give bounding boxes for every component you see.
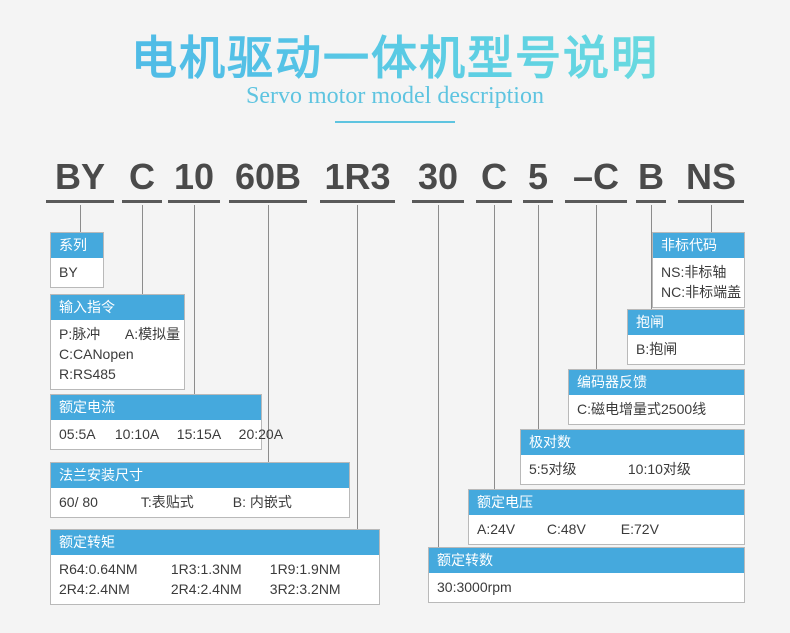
leader-line-encoder-feedback bbox=[596, 205, 597, 369]
box-body: R64:0.64NM 1R3:1.3NM 1R9:1.9NM 2R4:2.4NM… bbox=[51, 555, 379, 604]
box-cell: 60/ 80 bbox=[59, 492, 137, 512]
box-cell: 10:10A bbox=[115, 424, 173, 444]
leader-line-rated-current bbox=[194, 205, 195, 394]
info-box-rated-current: 额定电流 05:5A 10:10A 15:15A 20:20A bbox=[50, 394, 262, 450]
box-row: R64:0.64NM 1R3:1.3NM 1R9:1.9NM bbox=[59, 559, 371, 579]
model-segment-series: BY bbox=[46, 155, 114, 203]
box-title: 输入指令 bbox=[51, 295, 184, 320]
box-cell: 20:20A bbox=[239, 424, 283, 444]
info-box-input-command: 输入指令 P:脉冲 A:模拟量 C:CANopen R:RS485 bbox=[50, 294, 185, 390]
leader-line-rated-voltage bbox=[494, 205, 495, 489]
box-body: NS:非标轴 NC:非标端盖 bbox=[653, 258, 744, 307]
model-code-rated-current: 10 bbox=[168, 155, 220, 199]
info-box-series: 系列 BY bbox=[50, 232, 104, 288]
box-cell: NS:非标轴 bbox=[661, 262, 726, 282]
segment-underline bbox=[678, 200, 744, 203]
info-box-encoder-feedback: 编码器反馈 C:磁电增量式2500线 bbox=[568, 369, 745, 425]
model-segment-encoder-feedback: –C bbox=[565, 155, 627, 203]
box-body: P:脉冲 A:模拟量 C:CANopen R:RS485 bbox=[51, 320, 184, 389]
box-cell: C:磁电增量式2500线 bbox=[577, 399, 706, 419]
segment-underline bbox=[636, 200, 666, 203]
box-cell: 1R3:1.3NM bbox=[171, 559, 266, 579]
box-cell: 3R2:3.2NM bbox=[270, 579, 341, 599]
box-title: 额定转矩 bbox=[51, 530, 379, 555]
box-title: 额定电压 bbox=[469, 490, 744, 515]
info-box-rated-speed: 额定转数 30:3000rpm bbox=[428, 547, 745, 603]
box-cell: 2R4:2.4NM bbox=[59, 579, 167, 599]
box-cell: 10:10对级 bbox=[628, 459, 691, 479]
model-code-encoder-feedback: –C bbox=[565, 155, 627, 199]
box-body: A:24V C:48V E:72V bbox=[469, 515, 744, 544]
model-description-diagram: 电机驱动一体机型号说明 Servo motor model descriptio… bbox=[0, 0, 790, 633]
segment-underline bbox=[168, 200, 220, 203]
model-segment-input-command: C bbox=[122, 155, 162, 203]
box-cell: 30:3000rpm bbox=[437, 577, 512, 597]
model-segment-rated-speed: 30 bbox=[412, 155, 464, 203]
info-box-rated-torque: 额定转矩 R64:0.64NM 1R3:1.3NM 1R9:1.9NM 2R4:… bbox=[50, 529, 380, 605]
box-cell: B:抱闸 bbox=[636, 339, 677, 359]
leader-line-non-standard-code bbox=[711, 205, 712, 232]
model-code-non-standard-code: NS bbox=[678, 155, 744, 199]
model-code-row: BY C 10 60B 1R3 30 C 5 bbox=[0, 155, 790, 215]
model-code-pole-pairs: 5 bbox=[523, 155, 553, 199]
segment-underline bbox=[122, 200, 162, 203]
box-row: A:24V C:48V E:72V bbox=[477, 519, 736, 539]
segment-underline bbox=[412, 200, 464, 203]
box-title: 额定转数 bbox=[429, 548, 744, 573]
box-row: 05:5A 10:10A 15:15A 20:20A bbox=[59, 424, 253, 444]
segment-underline bbox=[523, 200, 553, 203]
model-code-flange-mounting-size: 60B bbox=[229, 155, 307, 199]
box-row: BY bbox=[59, 262, 95, 282]
box-title: 编码器反馈 bbox=[569, 370, 744, 395]
box-cell: BY bbox=[59, 262, 78, 282]
box-cell: 1R9:1.9NM bbox=[270, 559, 341, 579]
box-cell: NC:非标端盖 bbox=[661, 282, 741, 302]
box-cell: T:表贴式 bbox=[141, 492, 229, 512]
model-segment-pole-pairs: 5 bbox=[523, 155, 553, 203]
box-title: 非标代码 bbox=[653, 233, 744, 258]
model-segment-rated-voltage: C bbox=[476, 155, 512, 203]
page-title: 电机驱动一体机型号说明 bbox=[0, 22, 790, 88]
box-row: R:RS485 bbox=[59, 364, 176, 384]
box-row: NC:非标端盖 bbox=[661, 282, 736, 302]
box-title: 抱闸 bbox=[628, 310, 744, 335]
box-row: C:磁电增量式2500线 bbox=[577, 399, 736, 419]
box-row: P:脉冲 A:模拟量 bbox=[59, 324, 176, 344]
box-title: 额定电流 bbox=[51, 395, 261, 420]
box-cell: R:RS485 bbox=[59, 364, 116, 384]
segment-underline bbox=[476, 200, 512, 203]
info-box-non-standard-code: 非标代码 NS:非标轴 NC:非标端盖 bbox=[652, 232, 745, 308]
segment-underline bbox=[229, 200, 307, 203]
model-code-rated-speed: 30 bbox=[412, 155, 464, 199]
leader-line-rated-speed bbox=[438, 205, 439, 547]
leader-line-input-command bbox=[142, 205, 143, 294]
box-body: BY bbox=[51, 258, 103, 287]
box-title: 极对数 bbox=[521, 430, 744, 455]
box-cell: 15:15A bbox=[177, 424, 235, 444]
box-cell: 2R4:2.4NM bbox=[171, 579, 266, 599]
info-box-flange-mounting-size: 法兰安装尺寸 60/ 80 T:表贴式 B: 内嵌式 bbox=[50, 462, 350, 518]
info-box-pole-pairs: 极对数 5:5对级 10:10对级 bbox=[520, 429, 745, 485]
box-cell: P:脉冲 bbox=[59, 324, 121, 344]
model-segment-flange-mounting-size: 60B bbox=[229, 155, 307, 203]
box-row: 5:5对级 10:10对级 bbox=[529, 459, 736, 479]
box-row: 30:3000rpm bbox=[437, 577, 736, 597]
model-segment-rated-current: 10 bbox=[168, 155, 220, 203]
info-box-rated-voltage: 额定电压 A:24V C:48V E:72V bbox=[468, 489, 745, 545]
model-code-rated-torque: 1R3 bbox=[320, 155, 395, 199]
leader-line-series bbox=[80, 205, 81, 232]
box-cell: 05:5A bbox=[59, 424, 111, 444]
box-row: 2R4:2.4NM 2R4:2.4NM 3R2:3.2NM bbox=[59, 579, 371, 599]
segment-underline bbox=[320, 200, 395, 203]
model-code-input-command: C bbox=[122, 155, 162, 199]
box-cell: A:模拟量 bbox=[125, 324, 180, 344]
segment-underline bbox=[46, 200, 114, 203]
segment-underline bbox=[565, 200, 627, 203]
box-row: 60/ 80 T:表贴式 B: 内嵌式 bbox=[59, 492, 341, 512]
leader-line-rated-torque bbox=[357, 205, 358, 529]
box-title: 法兰安装尺寸 bbox=[51, 463, 349, 488]
box-row: C:CANopen bbox=[59, 344, 176, 364]
box-body: 60/ 80 T:表贴式 B: 内嵌式 bbox=[51, 488, 349, 517]
box-body: 30:3000rpm bbox=[429, 573, 744, 602]
box-cell: E:72V bbox=[621, 519, 659, 539]
box-body: B:抱闸 bbox=[628, 335, 744, 364]
box-cell: C:CANopen bbox=[59, 344, 134, 364]
box-cell: B: 内嵌式 bbox=[233, 492, 292, 512]
box-cell: A:24V bbox=[477, 519, 543, 539]
box-cell: R64:0.64NM bbox=[59, 559, 167, 579]
box-row: NS:非标轴 bbox=[661, 262, 736, 282]
box-body: 05:5A 10:10A 15:15A 20:20A bbox=[51, 420, 261, 449]
model-code-rated-voltage: C bbox=[476, 155, 512, 199]
model-segment-non-standard-code: NS bbox=[678, 155, 744, 203]
title-divider bbox=[335, 121, 455, 123]
box-body: C:磁电增量式2500线 bbox=[569, 395, 744, 424]
info-box-brake: 抱闸 B:抱闸 bbox=[627, 309, 745, 365]
box-cell: C:48V bbox=[547, 519, 617, 539]
page-subtitle: Servo motor model description bbox=[0, 83, 790, 110]
box-row: B:抱闸 bbox=[636, 339, 736, 359]
leader-line-pole-pairs bbox=[538, 205, 539, 429]
model-segment-brake: B bbox=[636, 155, 666, 203]
model-code-series: BY bbox=[46, 155, 114, 199]
model-segment-rated-torque: 1R3 bbox=[320, 155, 395, 203]
box-cell: 5:5对级 bbox=[529, 459, 624, 479]
box-body: 5:5对级 10:10对级 bbox=[521, 455, 744, 484]
model-code-brake: B bbox=[636, 155, 666, 199]
box-title: 系列 bbox=[51, 233, 103, 258]
